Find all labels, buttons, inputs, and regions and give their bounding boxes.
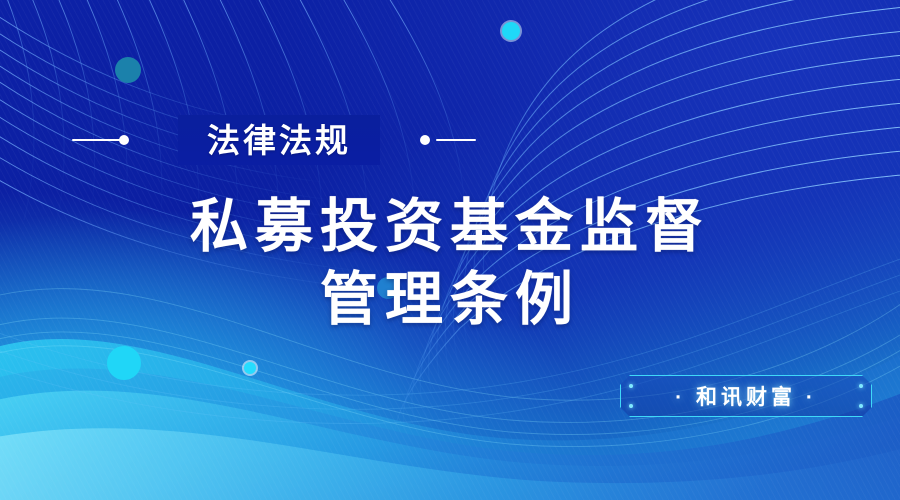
category-label-row: 法律法规	[0, 112, 900, 168]
brand-badge: · 和讯财富 ·	[620, 375, 872, 417]
badge-corner-dot-top-right	[859, 384, 863, 388]
accent-dot-cyan-top	[502, 22, 520, 40]
left-rule-dot	[119, 135, 129, 145]
badge-corner-dot-bottom-left	[629, 404, 633, 408]
banner-title: 私募投资基金监督 管理条例	[0, 196, 900, 331]
title-line-1: 私募投资基金监督	[0, 196, 900, 259]
promo-banner: 法律法规 私募投资基金监督 管理条例 · 和讯财富 ·	[0, 0, 900, 500]
accent-dot-cyan-large	[107, 346, 141, 380]
accent-dot-teal	[115, 57, 141, 83]
right-rule-dot	[420, 135, 430, 145]
badge-corner-dot-top-left	[629, 384, 633, 388]
category-label: 法律法规	[178, 115, 380, 165]
badge-corner-dot-bottom-right	[859, 404, 863, 408]
brand-name: · 和讯财富 ·	[675, 381, 817, 411]
left-rule-line	[72, 139, 120, 141]
title-line-2: 管理条例	[0, 269, 900, 332]
accent-dot-cyan-small	[244, 362, 256, 374]
right-rule-line	[436, 139, 476, 141]
